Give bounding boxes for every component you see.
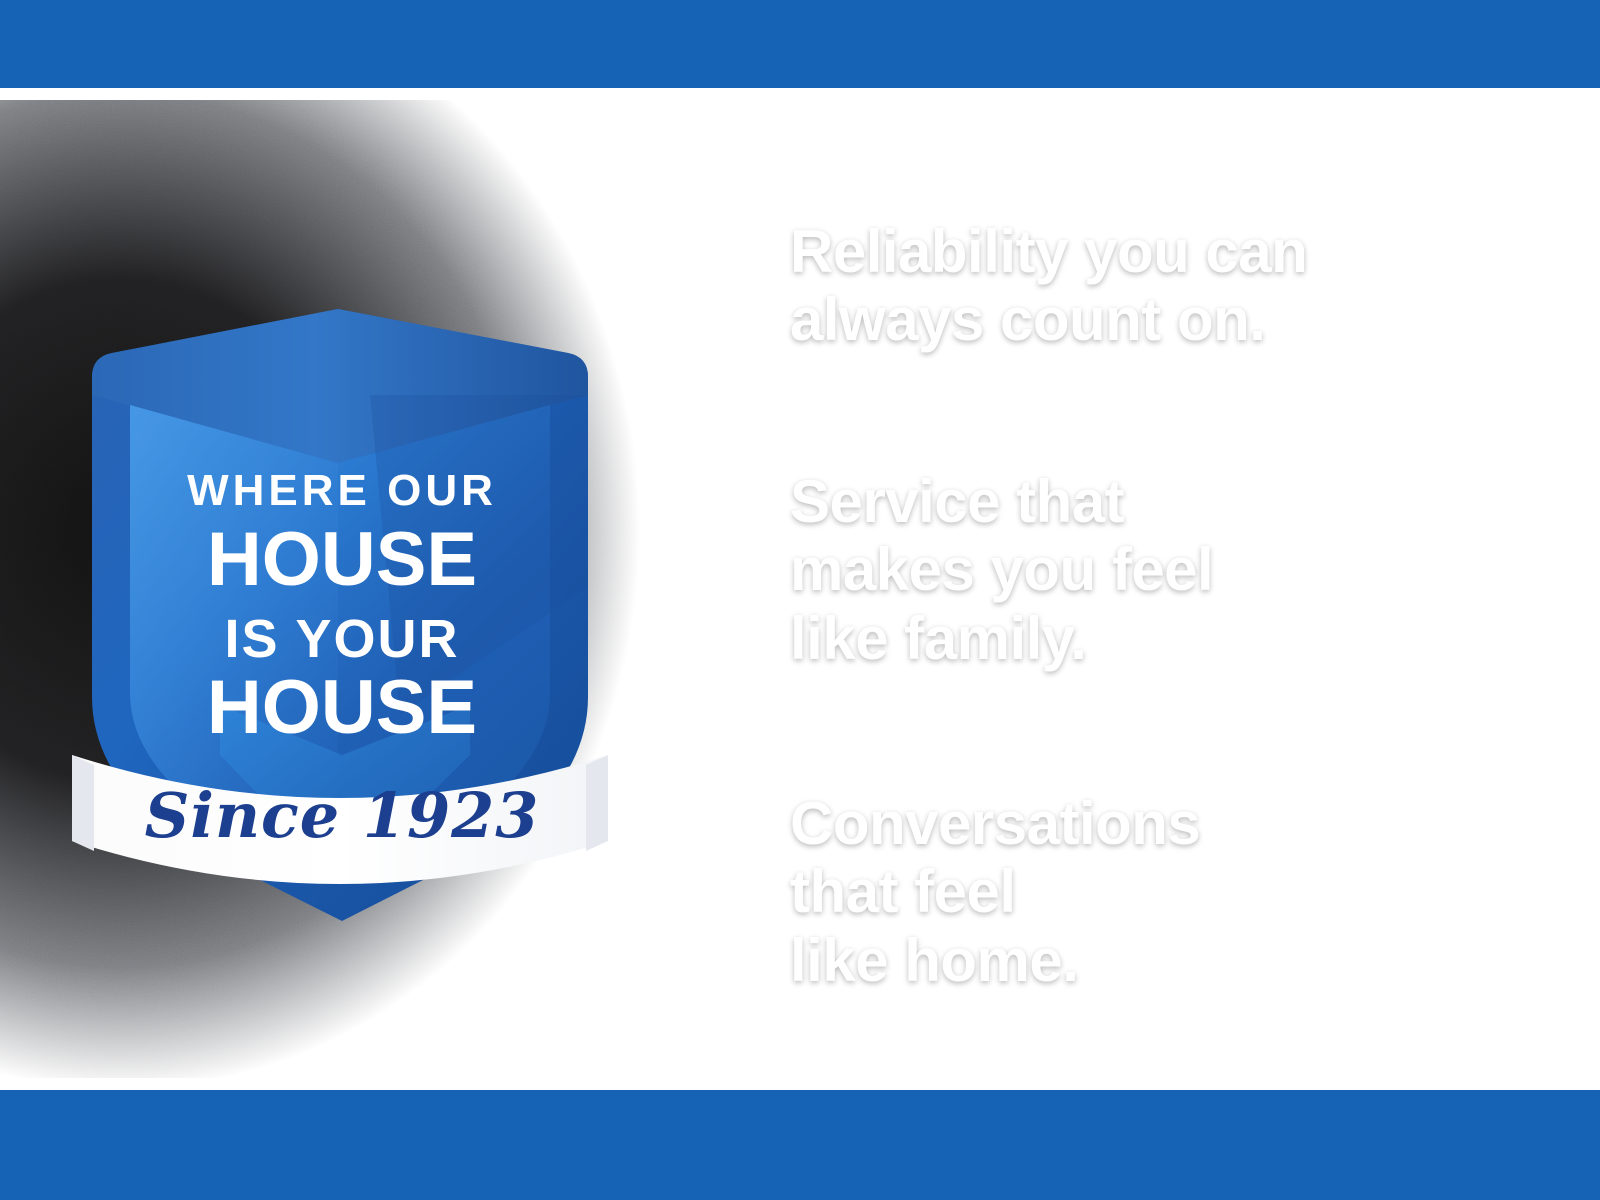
bottom-white-divider bbox=[0, 1078, 1600, 1090]
company-shield-logo: WHERE OUR HOUSE IS YOUR HOUSE Since 1923 bbox=[70, 285, 610, 925]
top-white-divider bbox=[0, 88, 1600, 100]
checkmark-icon bbox=[660, 468, 790, 594]
promo-graphic: WHERE OUR HOUSE IS YOUR HOUSE Since 1923 bbox=[0, 0, 1600, 1200]
benefit-text: Reliability you can always count on. bbox=[790, 218, 1307, 355]
benefit-text: Service that makes you feel like family. bbox=[790, 468, 1213, 673]
checkmark-icon bbox=[660, 218, 790, 344]
benefit-item: Service that makes you feel like family. bbox=[660, 468, 1213, 673]
shield-line-4: HOUSE bbox=[207, 665, 477, 750]
benefit-item: Conversations that feel like home. bbox=[660, 790, 1200, 995]
shield-line-1: WHERE OUR bbox=[187, 466, 497, 515]
bottom-brand-bar bbox=[0, 1090, 1600, 1200]
benefit-item: Reliability you can always count on. bbox=[660, 218, 1307, 355]
shield-line-3: IS YOUR bbox=[224, 609, 459, 669]
top-brand-bar bbox=[0, 0, 1600, 88]
checkmark-icon bbox=[660, 790, 790, 916]
benefit-text: Conversations that feel like home. bbox=[790, 790, 1200, 995]
since-banner-text: Since 1923 bbox=[145, 779, 540, 852]
shield-line-2: HOUSE bbox=[207, 517, 477, 602]
benefits-list: Reliability you can always count on. Ser… bbox=[660, 100, 1590, 1078]
